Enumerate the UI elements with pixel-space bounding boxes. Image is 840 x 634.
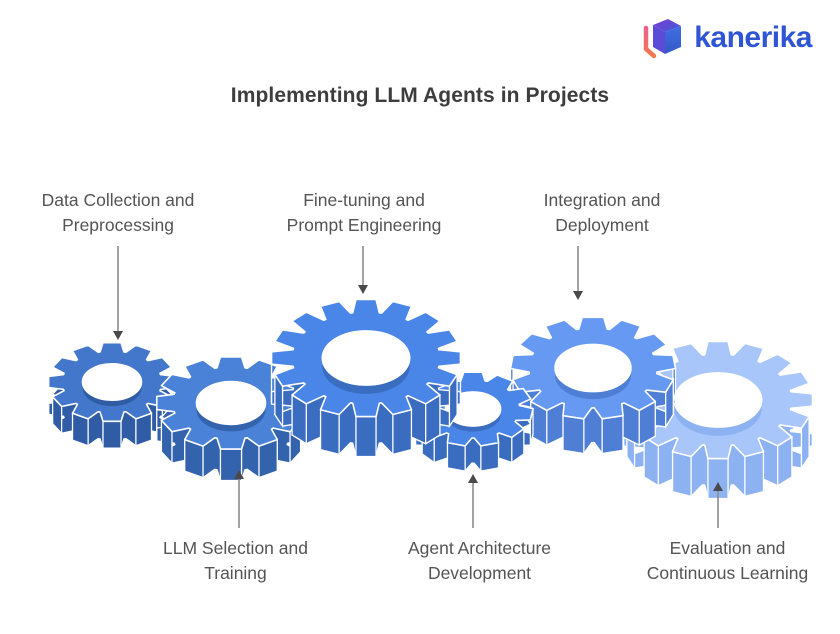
gear-fine-tuning: [271, 299, 461, 456]
gear-agent-architecture-tooth-wall: [447, 443, 465, 471]
gear-integration-deployment-hub-hole: [555, 344, 631, 391]
arrow-fine-tuning-head: [358, 285, 368, 294]
step-label-integration-deployment: Integration and Deployment: [512, 188, 692, 238]
gear-fine-tuning-tooth-wall: [356, 417, 376, 457]
gear-integration-deployment-tooth-wall: [563, 416, 584, 454]
arrow-data-collection-head: [113, 331, 123, 340]
step-label-evaluation-learning: Evaluation and Continuous Learning: [620, 536, 835, 586]
gear-data-collection-hub-hole: [83, 364, 142, 401]
gear-agent-architecture-tooth-wall: [481, 443, 499, 471]
gear-data-collection-tooth-wall: [103, 421, 121, 448]
gear-fine-tuning-hub-hole: [322, 331, 409, 385]
gear-evaluation-learning-tooth-wall: [673, 452, 692, 497]
gear-fine-tuning-tooth-wall: [321, 410, 340, 455]
gear-evaluation-learning-hub-hole: [674, 373, 761, 427]
gear-integration-deployment-tooth-wall: [602, 416, 623, 454]
gear-evaluation-learning-tooth-wall: [745, 452, 764, 497]
arrow-agent-architecture-head: [468, 474, 478, 483]
step-label-data-collection: Data Collection and Preprocessing: [18, 188, 218, 238]
arrow-integration-deployment-head: [573, 291, 583, 300]
step-label-agent-architecture: Agent Architecture Development: [382, 536, 577, 586]
gear-llm-selection-hub-hole: [197, 382, 266, 425]
gear-integration-deployment: [511, 317, 676, 453]
gears-layer: [48, 299, 813, 498]
step-label-fine-tuning: Fine-tuning and Prompt Engineering: [264, 188, 464, 238]
step-label-llm-selection: LLM Selection and Training: [133, 536, 338, 586]
gear-fine-tuning-tooth-wall: [393, 410, 412, 455]
